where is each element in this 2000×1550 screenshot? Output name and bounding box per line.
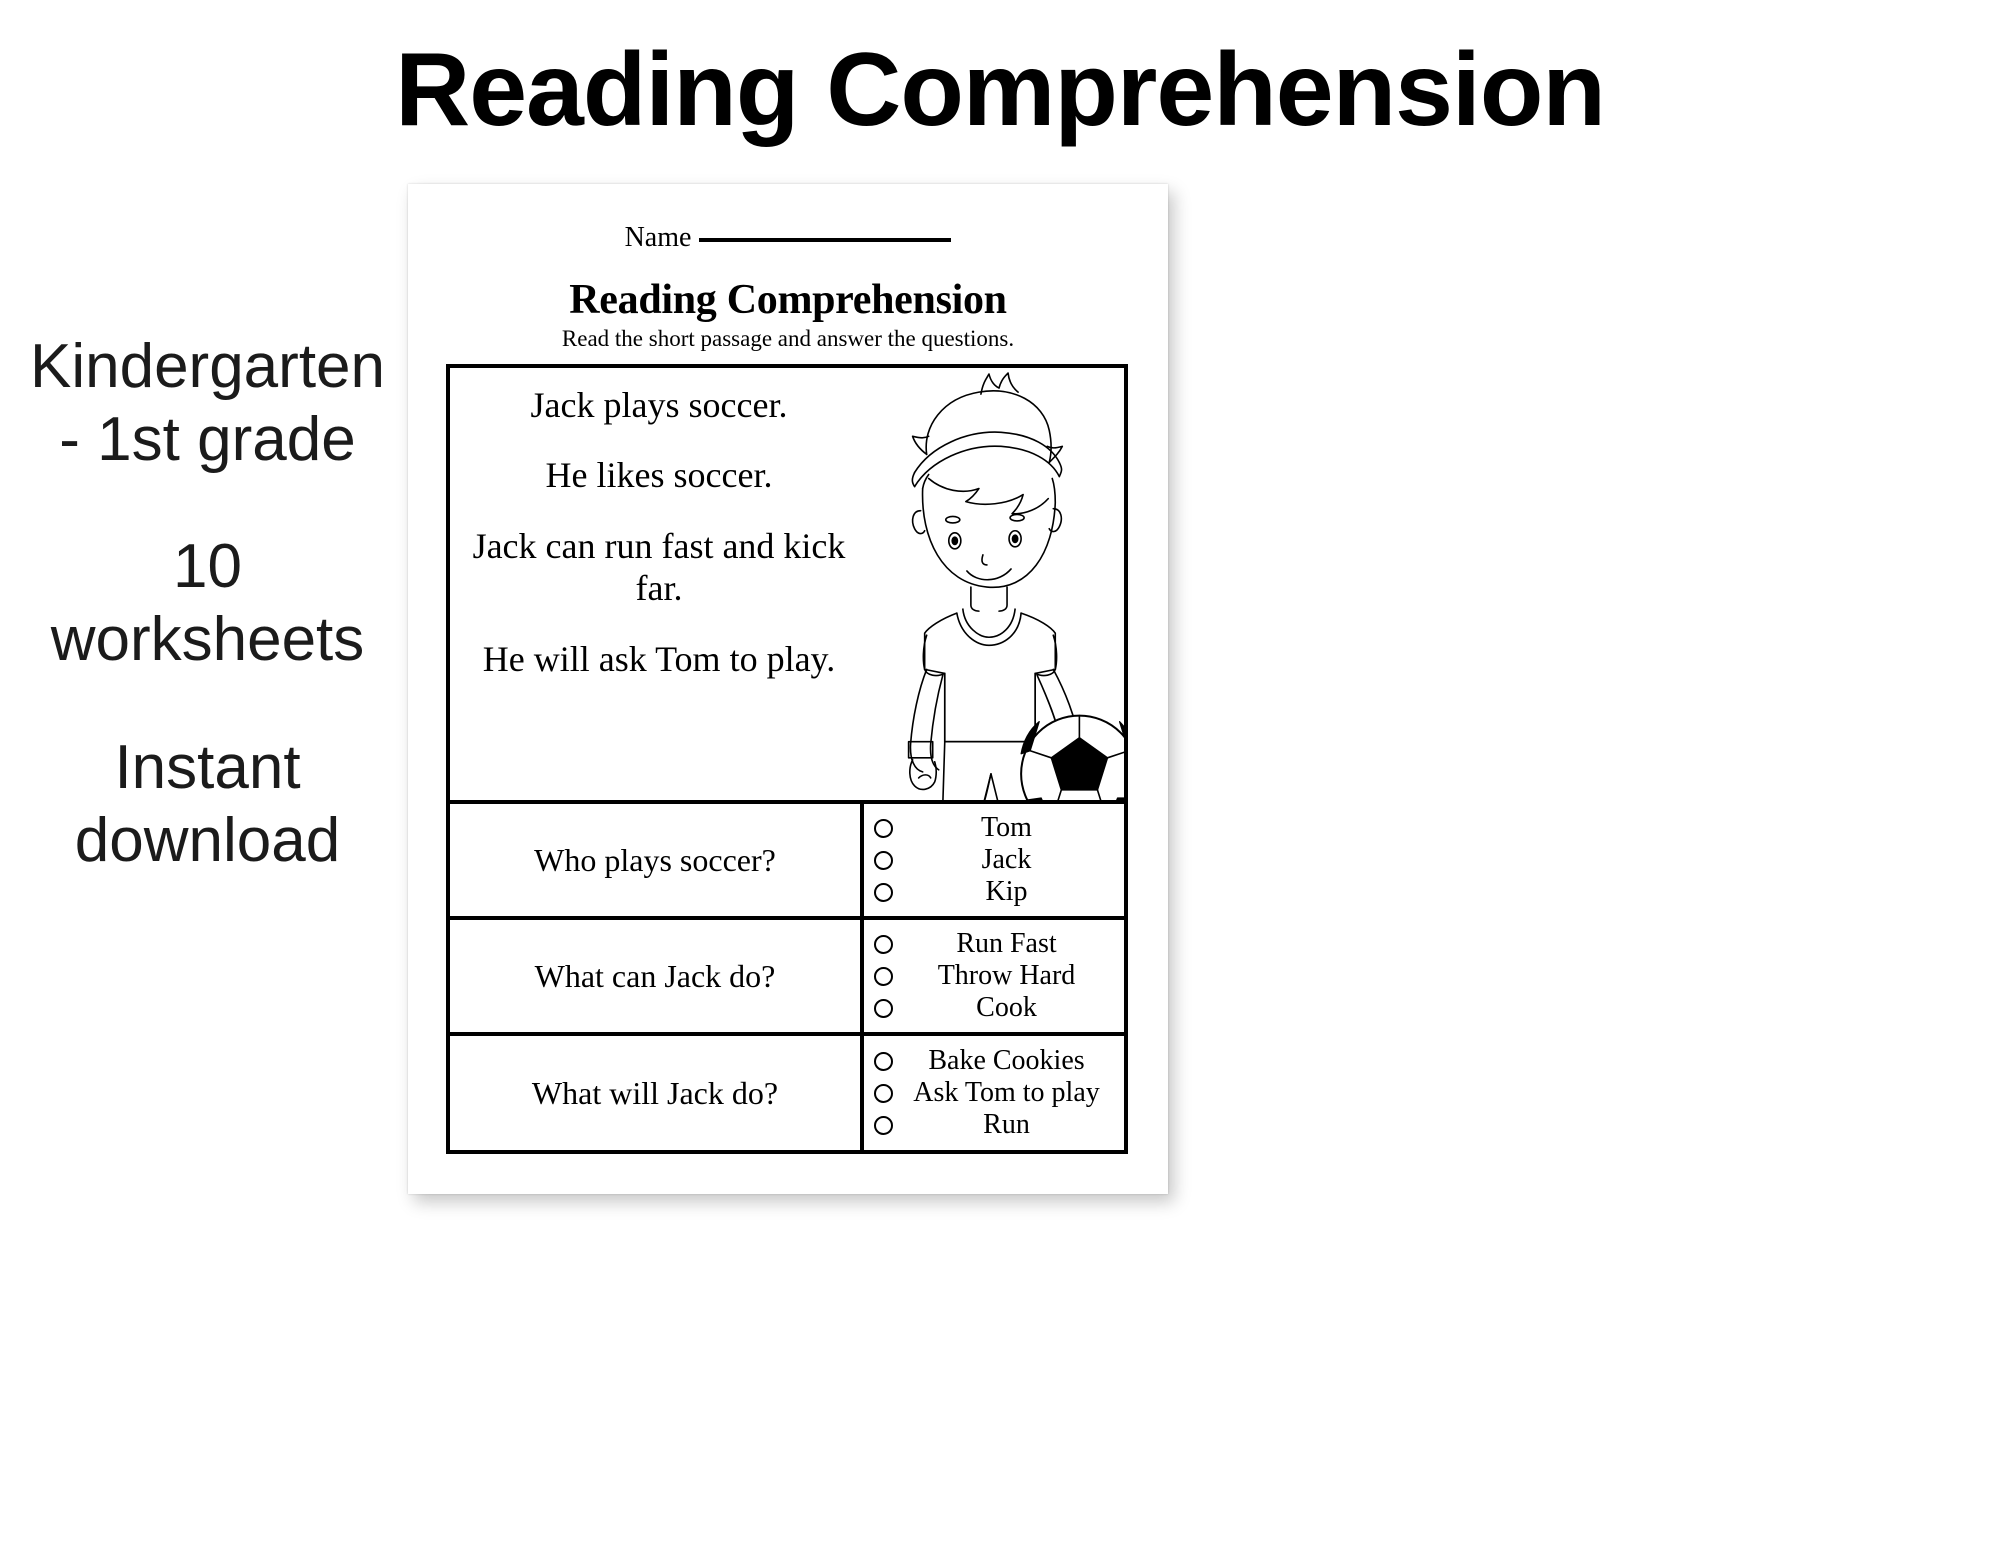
- answer-option[interactable]: Tom: [874, 814, 1118, 842]
- answer-option[interactable]: Cook: [874, 994, 1118, 1022]
- answer-option-label: Cook: [893, 994, 1118, 1022]
- side-line: download: [0, 804, 415, 877]
- answer-option-label: Jack: [893, 846, 1118, 874]
- question-prompt: What can Jack do?: [450, 920, 864, 1032]
- radio-circle-icon[interactable]: [874, 935, 893, 954]
- radio-circle-icon[interactable]: [874, 999, 893, 1018]
- answer-option-label: Tom: [893, 814, 1118, 842]
- answer-option-label: Bake Cookies: [893, 1047, 1118, 1075]
- side-block-grade-range: Kindergarten - 1st grade: [0, 330, 415, 476]
- answer-option-label: Run Fast: [893, 930, 1118, 958]
- side-line: - 1st grade: [0, 403, 415, 476]
- table-row: What can Jack do? Run Fast Throw Hard Co…: [450, 920, 1124, 1036]
- passage-line: Jack plays soccer.: [458, 384, 860, 426]
- passage-text: Jack plays soccer. He likes soccer. Jack…: [450, 368, 868, 800]
- radio-circle-icon[interactable]: [874, 851, 893, 870]
- radio-circle-icon[interactable]: [874, 967, 893, 986]
- table-row: What will Jack do? Bake Cookies Ask Tom …: [450, 1036, 1124, 1150]
- answer-option[interactable]: Throw Hard: [874, 962, 1118, 990]
- name-write-line[interactable]: [699, 238, 951, 242]
- worksheet-subtitle: Read the short passage and answer the qu…: [408, 326, 1168, 352]
- side-line: worksheets: [0, 603, 415, 676]
- passage-box: Jack plays soccer. He likes soccer. Jack…: [446, 364, 1128, 804]
- question-prompt: What will Jack do?: [450, 1036, 864, 1150]
- side-line: Instant: [0, 731, 415, 804]
- radio-circle-icon[interactable]: [874, 883, 893, 902]
- answer-option[interactable]: Ask Tom to play: [874, 1079, 1118, 1107]
- answer-option-label: Throw Hard: [893, 962, 1118, 990]
- name-label: Name: [625, 222, 692, 253]
- answer-options: Bake Cookies Ask Tom to play Run: [864, 1036, 1124, 1150]
- side-line: Kindergarten: [0, 330, 415, 403]
- answer-option[interactable]: Jack: [874, 846, 1118, 874]
- table-row: Who plays soccer? Tom Jack Kip: [450, 804, 1124, 920]
- marketing-side-column: Kindergarten - 1st grade 10 worksheets I…: [0, 330, 415, 877]
- side-line: 10: [0, 530, 415, 603]
- answer-option[interactable]: Run Fast: [874, 930, 1118, 958]
- side-block-delivery: Instant download: [0, 731, 415, 877]
- passage-line: Jack can run fast and kick far.: [458, 525, 860, 610]
- radio-circle-icon[interactable]: [874, 1052, 893, 1071]
- answer-option-label: Ask Tom to play: [893, 1079, 1118, 1107]
- questions-table: Who plays soccer? Tom Jack Kip What can …: [446, 804, 1128, 1154]
- question-prompt: Who plays soccer?: [450, 804, 864, 916]
- answer-option-label: Run: [893, 1111, 1118, 1139]
- name-field-row: Name: [408, 222, 1168, 254]
- answer-option[interactable]: Kip: [874, 878, 1118, 906]
- answer-options: Run Fast Throw Hard Cook: [864, 920, 1124, 1032]
- soccer-ball-icon: [1021, 716, 1124, 800]
- worksheet-page: Name Reading Comprehension Read the shor…: [408, 184, 1168, 1194]
- soccer-boy-icon: [868, 368, 1124, 800]
- passage-line: He will ask Tom to play.: [458, 638, 860, 680]
- answer-option[interactable]: Bake Cookies: [874, 1047, 1118, 1075]
- page-title: Reading Comprehension: [0, 34, 2000, 146]
- radio-circle-icon[interactable]: [874, 1084, 893, 1103]
- answer-option-label: Kip: [893, 878, 1118, 906]
- radio-circle-icon[interactable]: [874, 1116, 893, 1135]
- answer-options: Tom Jack Kip: [864, 804, 1124, 916]
- radio-circle-icon[interactable]: [874, 819, 893, 838]
- side-block-worksheet-count: 10 worksheets: [0, 530, 415, 676]
- answer-option[interactable]: Run: [874, 1111, 1118, 1139]
- passage-line: He likes soccer.: [458, 454, 860, 496]
- worksheet-title: Reading Comprehension: [408, 276, 1168, 324]
